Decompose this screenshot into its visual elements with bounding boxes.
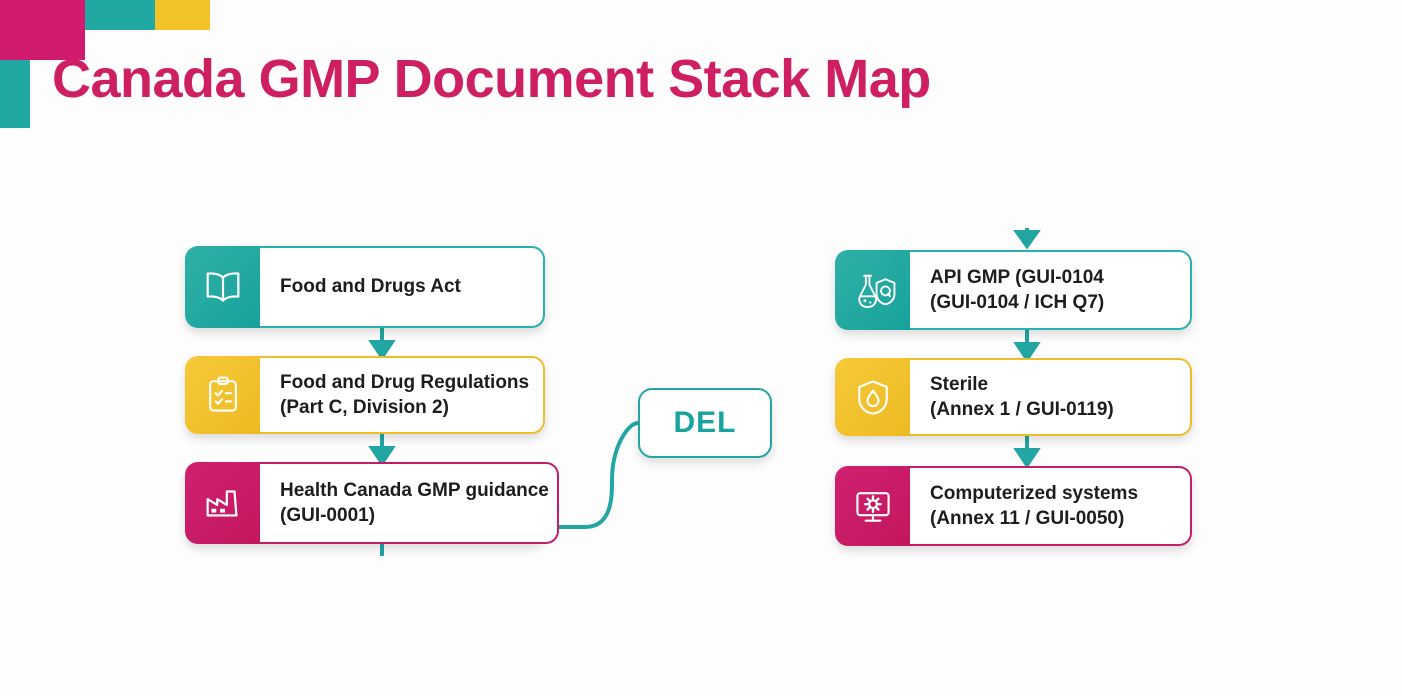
card-label-line: Health Canada GMP guidance xyxy=(280,478,549,503)
del-node[interactable]: DEL xyxy=(638,388,772,458)
card-label-line: (GUI-0001) xyxy=(280,503,549,528)
icon-pane xyxy=(835,466,910,546)
card-label-line: API GMP (GUI-0104 xyxy=(930,265,1104,290)
card-label-line: Food and Drugs Act xyxy=(280,274,461,299)
arrowhead-right-1-2 xyxy=(1017,344,1037,359)
card-label: API GMP (GUI-0104 (GUI-0104 / ICH Q7) xyxy=(930,265,1104,315)
card-api-gmp[interactable]: API GMP (GUI-0104 (GUI-0104 / ICH Q7) xyxy=(835,250,1192,330)
icon-pane xyxy=(835,250,910,330)
arrowhead-right-2-3 xyxy=(1017,450,1037,465)
icon-pane xyxy=(185,356,260,434)
decor-yellow-block xyxy=(155,0,210,30)
card-label-line: (Annex 1 / GUI-0119) xyxy=(930,397,1114,422)
card-body: Health Canada GMP guidance (GUI-0001) xyxy=(260,462,559,544)
card-body: Sterile (Annex 1 / GUI-0119) xyxy=(910,358,1192,436)
icon-pane xyxy=(185,462,260,544)
monitor-gear-icon xyxy=(850,484,896,528)
open-book-icon xyxy=(200,264,246,310)
card-food-and-drugs-act[interactable]: Food and Drugs Act xyxy=(185,246,545,328)
del-label: DEL xyxy=(674,406,737,440)
card-body: Food and Drug Regulations (Part C, Divis… xyxy=(260,356,545,434)
icon-pane xyxy=(185,246,260,328)
clipboard-checklist-icon xyxy=(201,373,245,417)
card-label-line: (GUI-0104 / ICH Q7) xyxy=(930,290,1104,315)
decor-teal-block xyxy=(85,0,155,30)
card-label-line: Sterile xyxy=(930,372,1114,397)
card-label: Food and Drug Regulations (Part C, Divis… xyxy=(280,370,529,420)
card-label: Health Canada GMP guidance (GUI-0001) xyxy=(280,478,549,528)
arrowhead-left-1-2 xyxy=(372,342,392,357)
card-label-line: (Annex 11 / GUI-0050) xyxy=(930,506,1138,531)
card-label: Sterile (Annex 1 / GUI-0119) xyxy=(930,372,1114,422)
card-label-line: Food and Drug Regulations xyxy=(280,370,529,395)
factory-icon xyxy=(200,480,246,526)
card-food-and-drug-regulations[interactable]: Food and Drug Regulations (Part C, Divis… xyxy=(185,356,545,434)
card-computerized-systems[interactable]: Computerized systems (Annex 11 / GUI-005… xyxy=(835,466,1192,546)
card-health-canada-gmp-guidance[interactable]: Health Canada GMP guidance (GUI-0001) xyxy=(185,462,545,544)
card-sterile[interactable]: Sterile (Annex 1 / GUI-0119) xyxy=(835,358,1192,436)
arrowhead-left-2-3 xyxy=(372,448,392,463)
shield-droplet-icon xyxy=(851,375,895,419)
card-body: Computerized systems (Annex 11 / GUI-005… xyxy=(910,466,1192,546)
arrowhead-right-top-in xyxy=(1017,232,1037,246)
page-title: Canada GMP Document Stack Map xyxy=(52,48,931,110)
icon-pane xyxy=(835,358,910,436)
connector-gui0001-to-del xyxy=(552,423,638,527)
card-label: Food and Drugs Act xyxy=(280,274,461,299)
decor-teal-block-left xyxy=(0,60,30,128)
slide-canvas: Canada GMP Document Stack Map xyxy=(0,0,1402,696)
card-label-line: (Part C, Division 2) xyxy=(280,395,529,420)
card-body: Food and Drugs Act xyxy=(260,246,545,328)
card-body: API GMP (GUI-0104 (GUI-0104 / ICH Q7) xyxy=(910,250,1192,330)
card-label: Computerized systems (Annex 11 / GUI-005… xyxy=(930,481,1138,531)
flask-shield-q-icon xyxy=(848,268,898,312)
card-label-line: Computerized systems xyxy=(930,481,1138,506)
